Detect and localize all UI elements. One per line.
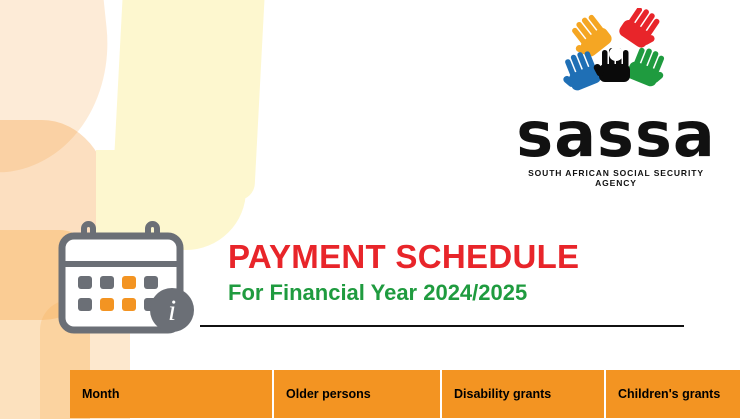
sassa-tagline: SOUTH AFRICAN SOCIAL SECURITY AGENCY bbox=[516, 168, 716, 188]
column-header-older-persons: Older persons bbox=[273, 370, 441, 418]
info-icon: i bbox=[150, 288, 194, 332]
document-page: sassa SOUTH AFRICAN SOCIAL SECURITY AGEN… bbox=[0, 0, 740, 419]
column-header-childrens-grants: Children's grants bbox=[605, 370, 740, 418]
page-subtitle: For Financial Year 2024/2025 bbox=[228, 281, 698, 304]
page-title: PAYMENT SCHEDULE bbox=[228, 240, 698, 275]
column-header-month: Month bbox=[70, 370, 273, 418]
table-header-row: Month Older persons Disability grants Ch… bbox=[70, 370, 740, 418]
title-area: PAYMENT SCHEDULE For Financial Year 2024… bbox=[228, 240, 698, 304]
sassa-wordmark: sassa bbox=[516, 106, 716, 165]
column-header-disability-grants: Disability grants bbox=[441, 370, 605, 418]
background-blob-yellow-top bbox=[112, 0, 266, 200]
background-blob-orange-top bbox=[0, 0, 120, 179]
payment-schedule-table: Month Older persons Disability grants Ch… bbox=[70, 370, 740, 418]
svg-text:i: i bbox=[168, 294, 176, 327]
calendar-icon: i bbox=[52, 218, 202, 338]
sassa-hands-icon bbox=[554, 8, 678, 104]
sassa-logo: sassa SOUTH AFRICAN SOCIAL SECURITY AGEN… bbox=[516, 8, 716, 188]
title-divider bbox=[200, 325, 684, 327]
